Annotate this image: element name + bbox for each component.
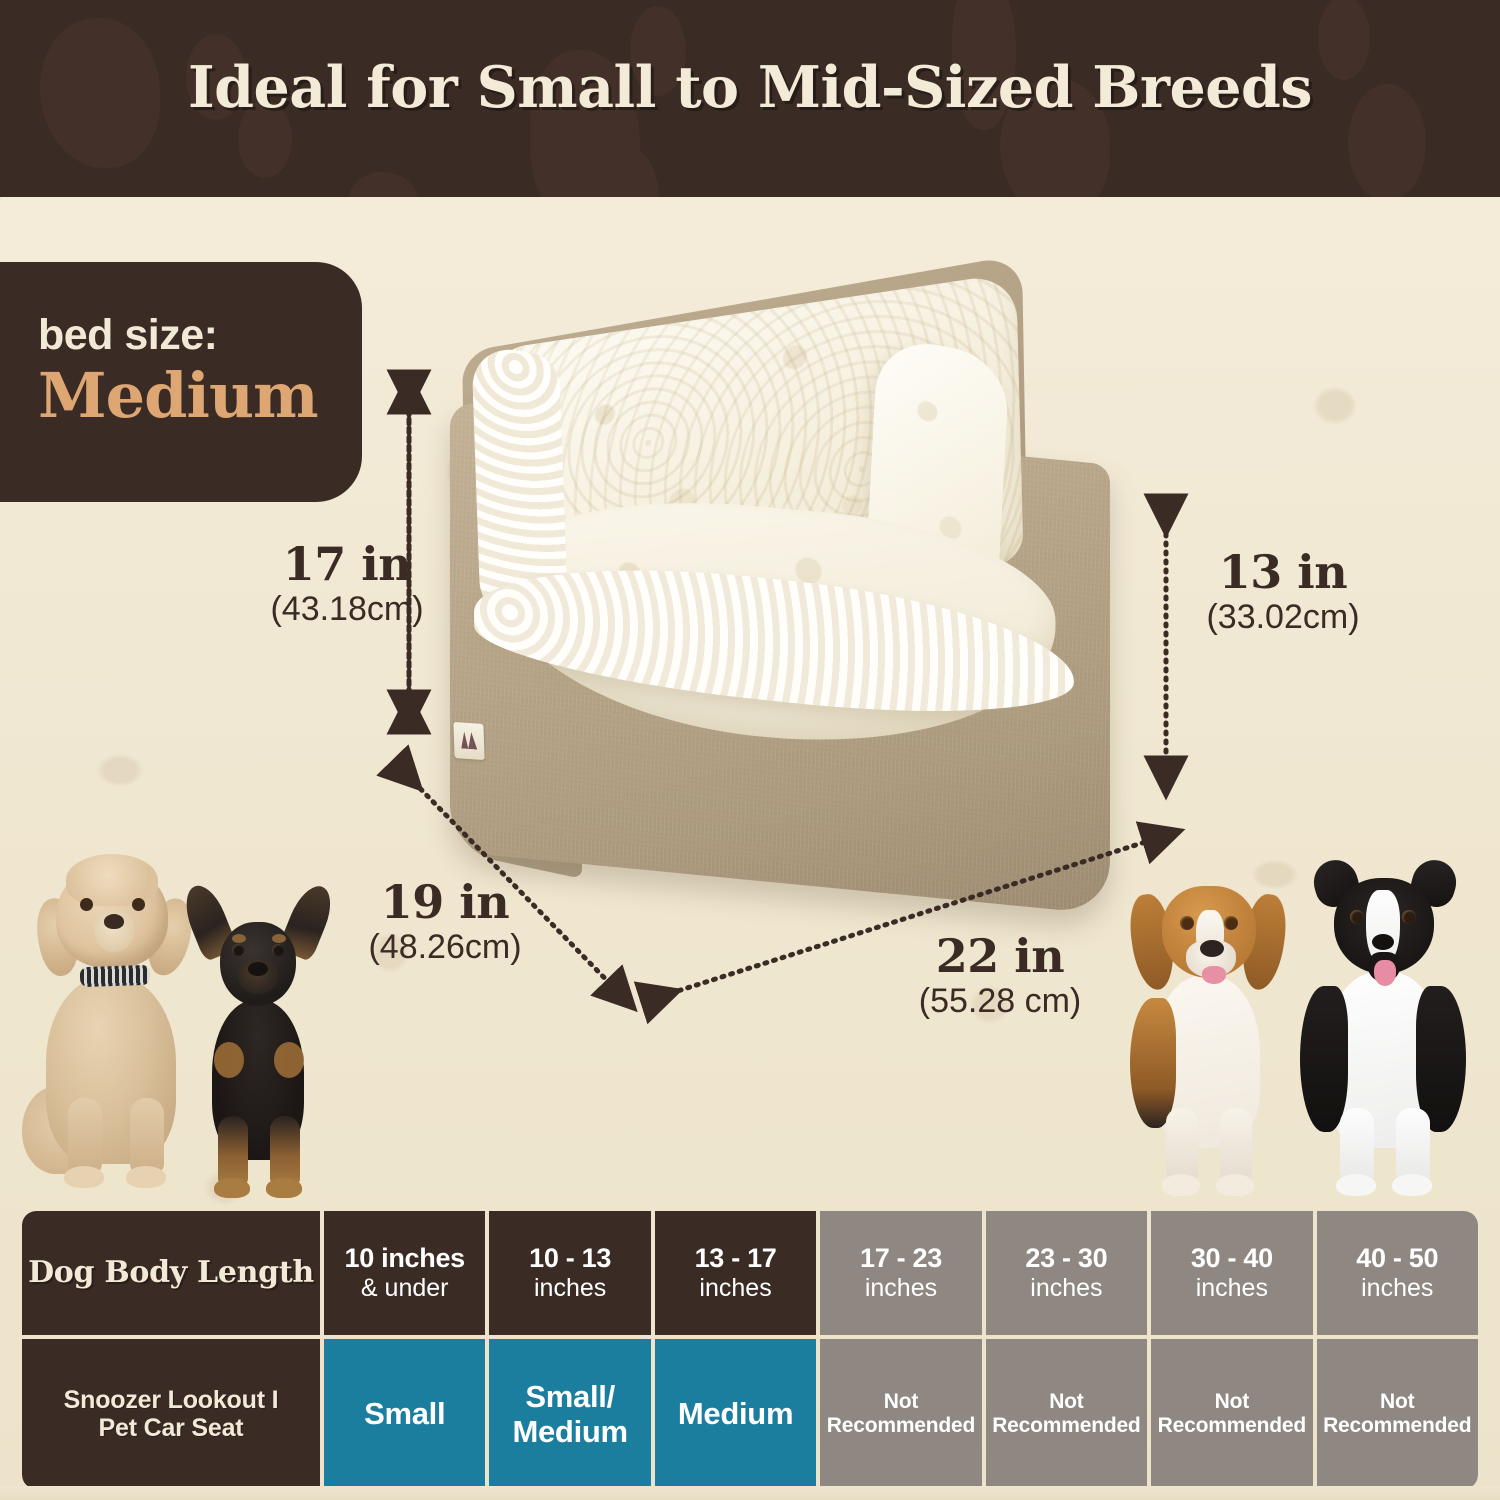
fit-value: Medium (678, 1396, 793, 1431)
not-recommended-line2: Recommended (992, 1414, 1140, 1438)
header-unit: inches (1030, 1274, 1102, 1303)
paw-shape (348, 172, 418, 197)
dimension-inches: 17 in (232, 540, 462, 588)
beagle-eye (1180, 916, 1194, 930)
fit-value-line1: Small/ (525, 1379, 615, 1414)
table-row: Snoozer Lookout I Pet Car Seat Small Sma… (22, 1339, 1478, 1489)
minpin-paw (214, 1178, 250, 1198)
collie-eye (1402, 910, 1416, 924)
poodle-eye (80, 898, 93, 911)
table-header-col-0: 10 inches & under (324, 1211, 485, 1335)
header-range: 23 - 30 (1025, 1243, 1107, 1274)
dimension-inches: 22 in (880, 932, 1120, 980)
minpin-tan-marking (214, 1042, 244, 1078)
beagle-nose (1200, 940, 1224, 957)
header-unit: inches (699, 1274, 771, 1303)
dimension-label-height-back: 17 in (43.18cm) (232, 540, 462, 631)
header-range: 40 - 50 (1356, 1243, 1438, 1274)
table-cell-fit-3: Not Recommended (820, 1339, 981, 1489)
bed-size-kicker: bed size: (38, 314, 362, 357)
beagle-flank (1130, 998, 1176, 1128)
not-recommended-line2: Recommended (1158, 1414, 1306, 1438)
bed-size-badge: bed size: Medium (0, 262, 362, 502)
header-unit: inches (865, 1274, 937, 1303)
table-header-label-text: Dog Body Length (28, 1256, 314, 1290)
minpin-tan-marking (274, 1042, 304, 1078)
not-recommended-line1: Not (1215, 1390, 1249, 1414)
not-recommended-line2: Recommended (1323, 1414, 1471, 1438)
minpin-brow (232, 934, 246, 943)
beagle-leg (1166, 1108, 1198, 1184)
poodle-topknot (66, 854, 158, 906)
table-header-col-3: 17 - 23 inches (820, 1211, 981, 1335)
header-range: 13 - 17 (695, 1243, 777, 1274)
table-header-col-2: 13 - 17 inches (655, 1211, 816, 1335)
beagle-leg (1220, 1108, 1252, 1184)
collie-flank (1300, 986, 1348, 1132)
minpin-eye (272, 944, 284, 956)
beagle-paw (1162, 1174, 1200, 1196)
not-recommended-line1: Not (1049, 1390, 1083, 1414)
table-header-col-6: 40 - 50 inches (1317, 1211, 1478, 1335)
dimension-inches: 19 in (330, 878, 560, 926)
beagle-eye (1224, 916, 1238, 930)
table-cell-fit-5: Not Recommended (1151, 1339, 1312, 1489)
header-range: 17 - 23 (860, 1243, 942, 1274)
header-range: 10 inches (345, 1243, 465, 1274)
not-recommended-line1: Not (884, 1390, 918, 1414)
dog-photo-poodle (22, 858, 202, 1198)
collie-paw (1336, 1174, 1376, 1196)
fit-value: Small (364, 1396, 445, 1431)
bed-size-value: Medium (38, 357, 362, 435)
collie-nose (1372, 934, 1394, 950)
collie-eye (1350, 910, 1364, 924)
dimension-cm: (43.18cm) (232, 588, 462, 631)
table-header-row: Dog Body Length 10 inches & under 10 - 1… (22, 1211, 1478, 1335)
dog-photo-beagle (1128, 868, 1288, 1198)
dimension-label-height-front: 13 in (33.02cm) (1168, 548, 1398, 639)
infographic-canvas: Ideal for Small to Mid-Sized Breeds bed … (0, 0, 1500, 1500)
header-unit: inches (534, 1274, 606, 1303)
table-cell-fit-6: Not Recommended (1317, 1339, 1478, 1489)
poodle-collar (80, 965, 151, 987)
beagle-tongue (1202, 966, 1226, 984)
table-cell-fit-2: Medium (655, 1339, 816, 1489)
not-recommended-line2: Recommended (827, 1414, 975, 1438)
product-image-pet-car-seat (430, 293, 1160, 913)
table-header-col-4: 23 - 30 inches (986, 1211, 1147, 1335)
bottom-edge-strip (0, 1486, 1500, 1500)
table-header-col-1: 10 - 13 inches (489, 1211, 650, 1335)
minpin-brow (272, 934, 286, 943)
dog-photo-miniature-pinscher (182, 890, 332, 1198)
dimension-inches: 13 in (1168, 548, 1398, 596)
fit-value-line2: Medium (512, 1414, 627, 1449)
poodle-leg (68, 1098, 102, 1174)
minpin-nose (248, 962, 268, 976)
dimension-cm: (55.28 cm) (880, 980, 1120, 1023)
header-banner: Ideal for Small to Mid-Sized Breeds (0, 0, 1500, 197)
dog-photo-border-collie (1300, 860, 1470, 1200)
poodle-eye (132, 898, 145, 911)
poodle-paw (126, 1166, 166, 1188)
header-unit: inches (1361, 1274, 1433, 1303)
product-name-line2: Pet Car Seat (99, 1414, 244, 1443)
dimension-label-width: 22 in (55.28 cm) (880, 932, 1120, 1023)
size-fit-table: Dog Body Length 10 inches & under 10 - 1… (22, 1211, 1478, 1489)
table-header-label: Dog Body Length (22, 1211, 320, 1335)
header-unit: inches (1196, 1274, 1268, 1303)
brand-tag (453, 722, 484, 760)
dimension-label-depth: 19 in (48.26cm) (330, 878, 560, 969)
collie-paw (1392, 1174, 1432, 1196)
dimension-cm: (33.02cm) (1168, 596, 1398, 639)
beagle-paw (1216, 1174, 1254, 1196)
minpin-paw (266, 1178, 302, 1198)
page-title: Ideal for Small to Mid-Sized Breeds (0, 54, 1500, 121)
table-header-col-5: 30 - 40 inches (1151, 1211, 1312, 1335)
table-cell-fit-4: Not Recommended (986, 1339, 1147, 1489)
not-recommended-line1: Not (1380, 1390, 1414, 1414)
dimension-cm: (48.26cm) (330, 926, 560, 969)
table-cell-fit-0: Small (324, 1339, 485, 1489)
minpin-eye (232, 944, 244, 956)
poodle-nose (104, 914, 124, 929)
collie-leg (1340, 1108, 1374, 1184)
poodle-paw (64, 1166, 104, 1188)
header-range: 30 - 40 (1191, 1243, 1273, 1274)
collie-leg (1396, 1108, 1430, 1184)
collie-tongue (1374, 960, 1396, 986)
poodle-leg (130, 1098, 164, 1174)
table-row-product-label: Snoozer Lookout I Pet Car Seat (22, 1339, 320, 1489)
table-cell-fit-1: Small/ Medium (489, 1339, 650, 1489)
header-unit: & under (361, 1274, 449, 1303)
product-name-line1: Snoozer Lookout I (64, 1386, 279, 1415)
header-range: 10 - 13 (529, 1243, 611, 1274)
